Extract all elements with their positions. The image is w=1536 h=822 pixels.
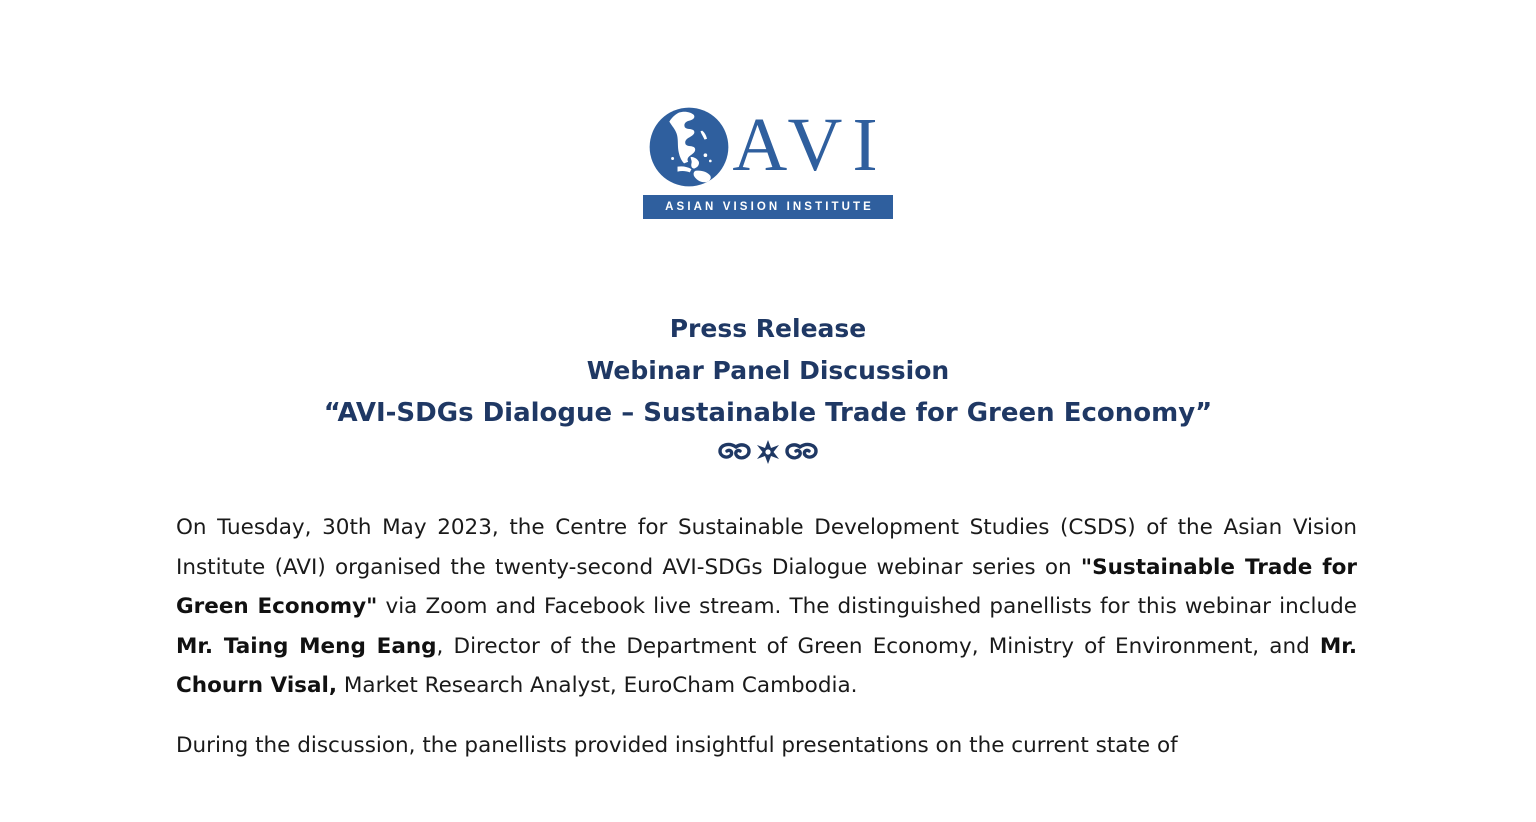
- logo-banner: ASIAN VISION INSTITUTE: [643, 195, 893, 219]
- title-line-press-release: Press Release: [0, 308, 1536, 350]
- avi-logo: AVI ASIAN VISION INSTITUTE: [0, 105, 1536, 219]
- paragraph-1: On Tuesday, 30th May 2023, the Centre fo…: [176, 508, 1357, 706]
- paragraph-1-run-2: via Zoom and Facebook live stream. The d…: [377, 594, 1357, 619]
- globe-icon: [648, 106, 730, 188]
- logo-mark: AVI: [648, 105, 887, 189]
- logo-banner-text: ASIAN VISION INSTITUTE: [662, 201, 874, 213]
- paragraph-2: During the discussion, the panellists pr…: [176, 726, 1357, 766]
- title-line-webinar-panel-discussion: Webinar Panel Discussion: [0, 350, 1536, 392]
- logo-wordmark: AVI: [732, 107, 887, 187]
- paragraph-1-run-3: Mr. Taing Meng Eang: [176, 634, 437, 659]
- ornamental-divider: [0, 436, 1536, 466]
- press-release-body: On Tuesday, 30th May 2023, the Centre fo…: [176, 508, 1357, 766]
- paragraph-1-run-4: , Director of the Department of Green Ec…: [437, 634, 1320, 659]
- paragraph-1-run-6: Market Research Analyst, EuroCham Cambod…: [337, 673, 857, 698]
- press-release-page: AVI ASIAN VISION INSTITUTE Press Release…: [0, 0, 1536, 822]
- title-line-dialogue-topic: “AVI-SDGs Dialogue – Sustainable Trade f…: [0, 392, 1536, 434]
- paragraph-2-run-0: During the discussion, the panellists pr…: [176, 733, 1178, 758]
- document-title-block: Press Release Webinar Panel Discussion “…: [0, 308, 1536, 466]
